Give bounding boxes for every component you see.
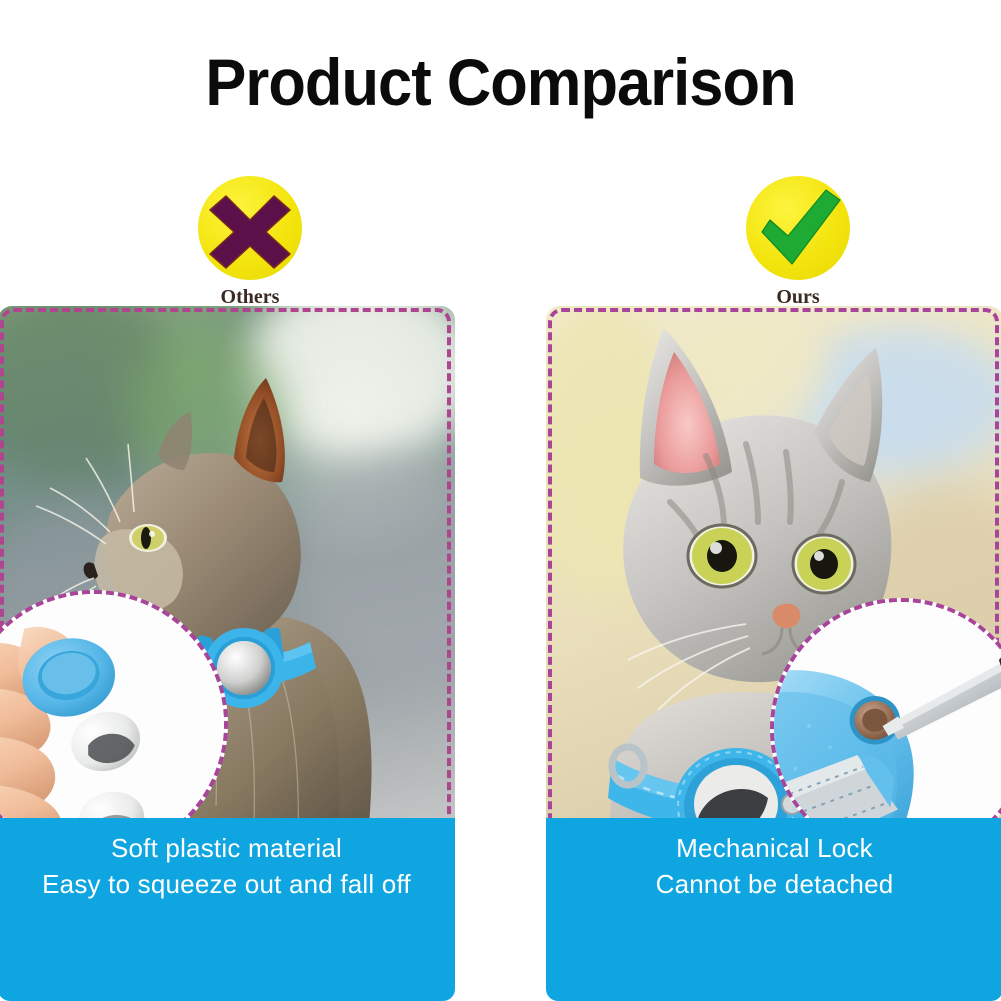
badge-others: Others (155, 176, 345, 309)
caption-line-2-others: Easy to squeeze out and fall off (0, 866, 455, 902)
caption-banner-ours: Mechanical Lock Cannot be detached (546, 818, 1001, 1001)
badge-ours: Ours (703, 176, 893, 309)
comparison-column-ours: Mechanical Lock Cannot be detached (546, 306, 1001, 1001)
page-title: Product Comparison (35, 46, 966, 118)
caption-line-1-others: Soft plastic material (0, 830, 455, 866)
cross-icon (198, 176, 302, 280)
inset-illustration-others (0, 594, 224, 854)
caption-line-2-ours: Cannot be detached (546, 866, 1001, 902)
caption-line-1-ours: Mechanical Lock (546, 830, 1001, 866)
comparison-column-others: Soft plastic material Easy to squeeze ou… (0, 306, 455, 1001)
caption-banner-others: Soft plastic material Easy to squeeze ou… (0, 818, 455, 1001)
badge-circle-others (198, 176, 302, 280)
badge-circle-ours (746, 176, 850, 280)
check-icon (746, 176, 850, 280)
